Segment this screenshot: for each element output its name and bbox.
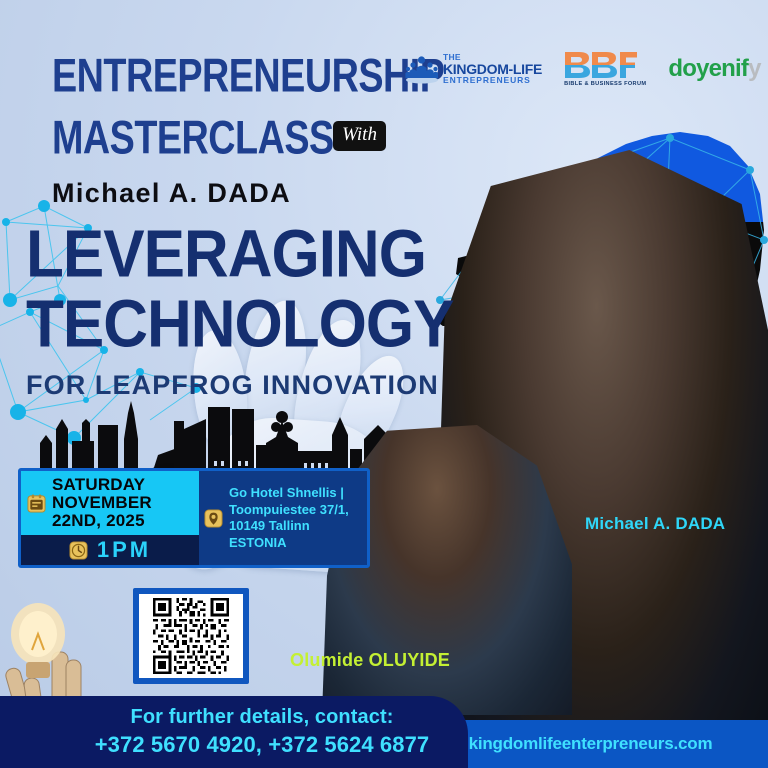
event-flyer: ENTREPRENEURSHIP MASTERCLASS With Michae… (0, 0, 768, 768)
event-date-line-1: SATURDAY (52, 476, 152, 494)
headline-line-2: TECHNOLOGY (26, 292, 453, 358)
venue-panel: Go Hotel Shnellis | Toompuiestee 37/1, 1… (199, 471, 367, 565)
contact-phones[interactable]: +372 5670 4920, +372 5624 6877 (95, 732, 430, 758)
masthead-line-2: MASTERCLASS (52, 114, 334, 163)
venue-line-1: Go Hotel Shnellis | (229, 485, 349, 502)
bbf-letters-icon (564, 50, 638, 80)
masthead: ENTREPRENEURSHIP MASTERCLASS With Michae… (52, 52, 382, 209)
logo-bible-business-forum: BIBLE & BUSINESS FORUM (564, 50, 646, 87)
host-name: Michael A. DADA (52, 178, 382, 209)
contact-label: For further details, contact: (131, 706, 394, 729)
venue-line-4: ESTONIA (229, 535, 349, 552)
qr-code-image (143, 598, 239, 674)
name-tag-michael-dada: Michael A. DADA (585, 514, 725, 534)
masthead-line-1: ENTREPRENEURSHIP (52, 52, 389, 101)
headline-line-1: LEVERAGING (26, 222, 453, 288)
qr-code-frame[interactable] (133, 588, 249, 684)
calendar-icon (27, 494, 46, 513)
event-venue: Go Hotel Shnellis | Toompuiestee 37/1, 1… (229, 485, 349, 551)
logo-doyenify: doyenify (668, 55, 760, 83)
venue-line-2: Toompuiestee 37/1, (229, 502, 349, 519)
headline-subtitle: FOR LEAPFROG INNOVATION (26, 370, 453, 401)
headline-block: LEVERAGING TECHNOLOGY FOR LEAPFROG INNOV… (26, 222, 453, 401)
event-date-line-3: 22ND, 2025 (52, 512, 152, 530)
date-panel: SATURDAY NOVEMBER 22ND, 2025 (21, 471, 199, 535)
logo-doyenify-tail: y (748, 55, 761, 82)
name-tag-olumide-oluyide: Olumide OLUYIDE (290, 650, 450, 671)
qr-code[interactable] (139, 594, 243, 678)
clock-icon (69, 541, 88, 560)
logo-doyenify-main: doyenif (668, 55, 748, 82)
event-time: 1PM (97, 537, 151, 563)
estonia-map-graphic (430, 110, 768, 420)
logo-klc-main: KINGDOM-LIFE (443, 62, 542, 76)
partner-logos: THE KINGDOM-LIFE ENTREPRENEURS (405, 50, 761, 87)
contact-bar: For further details, contact: +372 5670 … (0, 696, 468, 768)
logo-klc-sub: ENTREPRENEURS (443, 76, 542, 85)
logo-bbf-sub: BIBLE & BUSINESS FORUM (564, 81, 646, 87)
event-date: SATURDAY NOVEMBER 22ND, 2025 (52, 476, 152, 530)
masthead-line-2-row: MASTERCLASS With (52, 114, 382, 152)
venue-line-3: 10149 Tallinn (229, 518, 349, 535)
with-badge: With (333, 121, 386, 151)
logo-kingdom-life-entrepreneurs: THE KINGDOM-LIFE ENTREPRENEURS (405, 53, 542, 84)
people-group-icon (405, 54, 439, 84)
location-pin-icon (204, 509, 223, 528)
date-time-column: SATURDAY NOVEMBER 22ND, 2025 1PM (21, 471, 199, 565)
time-panel: 1PM (21, 535, 199, 565)
event-date-line-2: NOVEMBER (52, 494, 152, 512)
event-details-box: SATURDAY NOVEMBER 22ND, 2025 1PM (18, 468, 370, 568)
website-url[interactable]: www.kingdomlifeenterpreneurs.com (426, 734, 713, 754)
speaker-photo-michael-dada (438, 150, 768, 750)
